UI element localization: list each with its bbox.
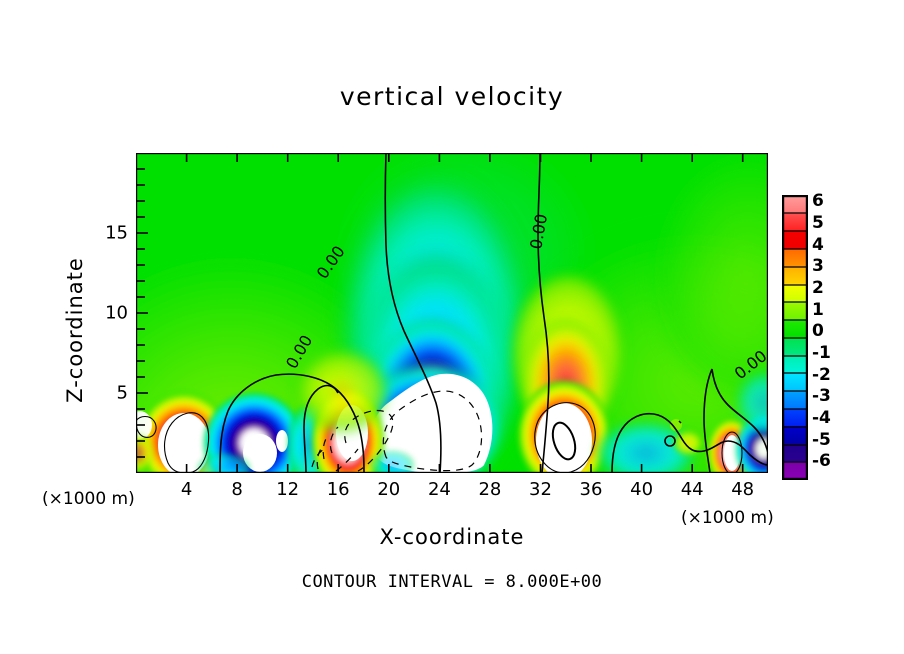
y-tick-10: 10 xyxy=(88,303,128,324)
colorbar-label-2: 2 xyxy=(812,278,824,298)
colorbar-label-3: 3 xyxy=(812,256,824,276)
x-tick-8: 8 xyxy=(231,479,242,500)
colorbar-label-6: 6 xyxy=(812,191,824,211)
y-tick-5: 5 xyxy=(88,383,128,404)
colorbar-label-m1: -1 xyxy=(812,343,831,363)
y-axis-title: Z-coordinate xyxy=(63,230,87,430)
colorbar-label-5: 5 xyxy=(812,213,824,233)
x-tick-36: 36 xyxy=(580,479,603,500)
colorbar-label-1: 1 xyxy=(812,300,824,320)
x-axis-unit-label: (×1000 m) xyxy=(681,508,774,528)
x-tick-44: 44 xyxy=(681,479,704,500)
colorbar-label-0: 0 xyxy=(812,321,824,341)
x-tick-48: 48 xyxy=(731,479,754,500)
z-axis-unit-label: (×1000 m) xyxy=(42,489,135,509)
y-axis-tick-labels: 5 10 15 xyxy=(88,0,128,654)
x-tick-24: 24 xyxy=(428,479,451,500)
field-white-sliver-left xyxy=(276,430,288,452)
field-yellow-halo-17km xyxy=(298,351,386,431)
contour-plot: 0.00 0.00 0.00 0.00 xyxy=(136,153,768,473)
x-tick-12: 12 xyxy=(276,479,299,500)
x-tick-28: 28 xyxy=(478,479,501,500)
colorbar-label-m5: -5 xyxy=(812,430,831,450)
x-tick-32: 32 xyxy=(529,479,552,500)
color-field xyxy=(136,153,768,473)
contour-interval-caption: CONTOUR INTERVAL = 8.000E+00 xyxy=(0,572,904,592)
x-tick-4: 4 xyxy=(181,479,192,500)
x-tick-40: 40 xyxy=(630,479,653,500)
colorbar-label-m2: -2 xyxy=(812,365,831,385)
x-axis-title: X-coordinate xyxy=(0,525,904,549)
colorbar-label-m4: -4 xyxy=(812,408,831,428)
x-tick-20: 20 xyxy=(377,479,400,500)
colorbar-label-m6: -6 xyxy=(812,451,831,471)
page-title: vertical velocity xyxy=(0,82,904,111)
x-tick-16: 16 xyxy=(327,479,350,500)
colorbar xyxy=(782,195,808,480)
colorbar-label-4: 4 xyxy=(812,235,824,255)
y-tick-15: 15 xyxy=(88,223,128,244)
colorbar-label-m3: -3 xyxy=(812,386,831,406)
figure-canvas: vertical velocity xyxy=(0,0,904,654)
